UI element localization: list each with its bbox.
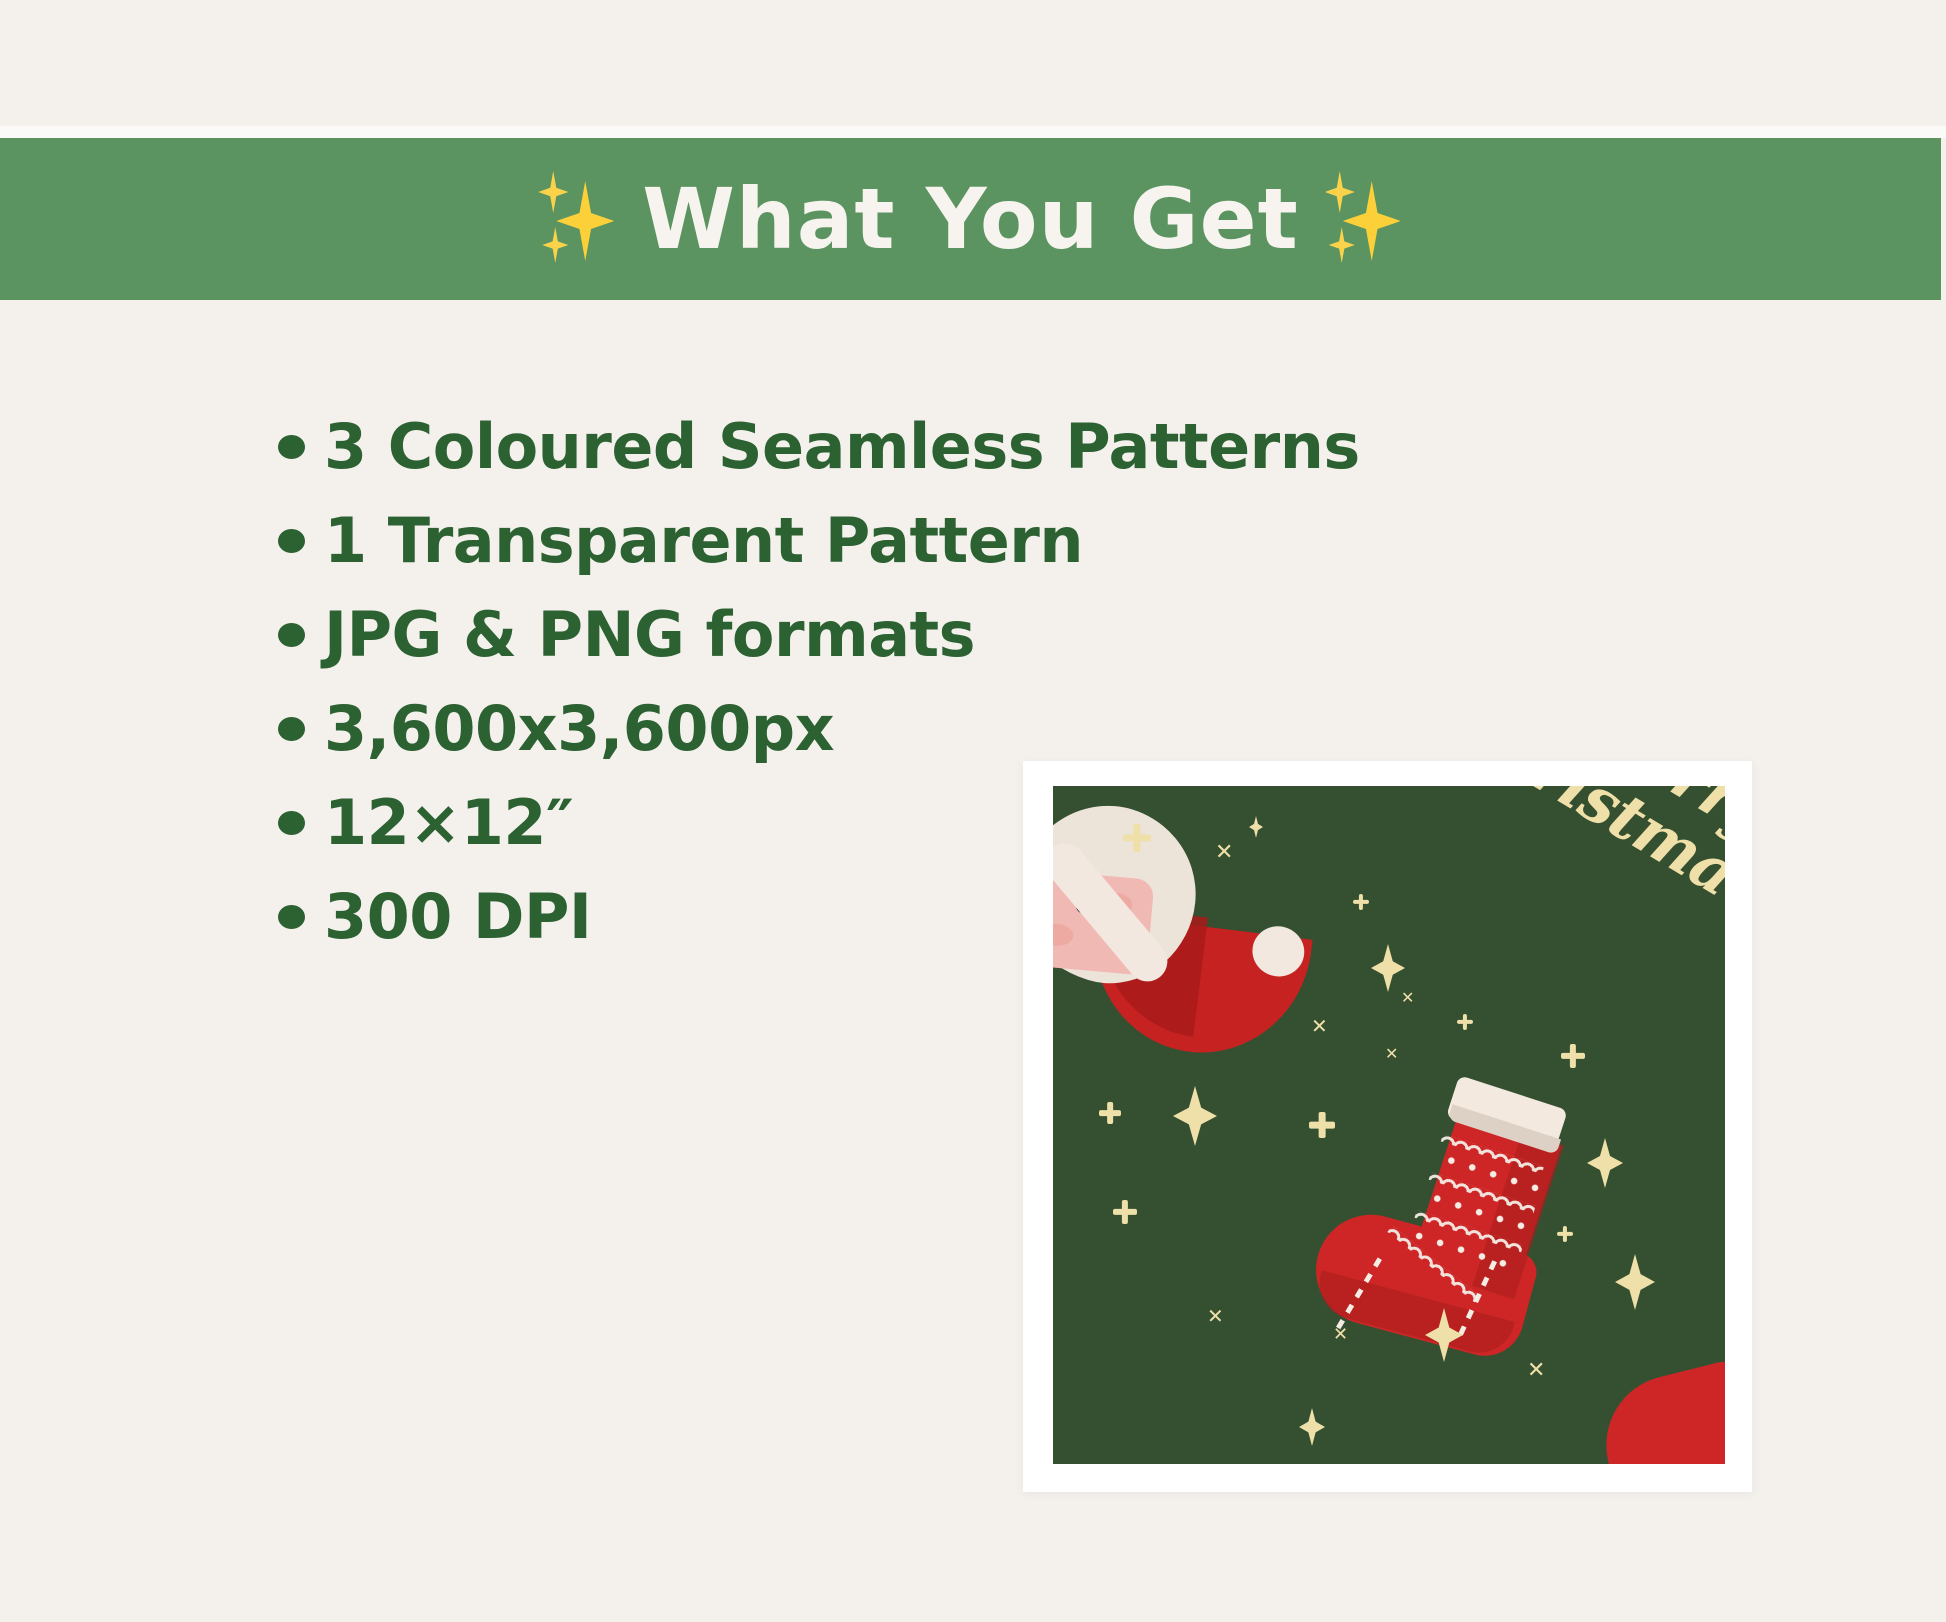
star-sparkle-icon [1371,944,1405,992]
bullet-dot-icon [278,435,305,459]
x-sparkle-icon: ✕ [1207,1306,1224,1326]
plus-sparkle-icon [1353,894,1369,910]
plus-sparkle-icon [1113,1200,1137,1224]
feature-label: JPG & PNG formats [324,604,975,666]
star-sparkle-icon [1587,1138,1623,1188]
pattern-repeat-red-corner [1592,1358,1725,1464]
bullet-dot-icon [278,623,305,647]
sparkles-icon-left [538,171,616,267]
page-title: What You Get [642,177,1298,261]
bullet-dot-icon [278,717,305,741]
bullet-dot-icon [278,905,305,929]
christmas-stocking-illustration [1292,1064,1583,1368]
sparkles-icon-right [1325,171,1403,267]
x-sparkle-icon: ✕ [1215,842,1233,864]
bullet-dot-icon [278,529,305,553]
plus-sparkle-icon [1561,1044,1585,1068]
merry-christmas-script-text: merry christma [1422,786,1725,907]
x-sparkle-icon: ✕ [1311,1016,1328,1036]
header-banner: What You Get [0,138,1941,300]
list-item: JPG & PNG formats [262,588,1262,682]
star-sparkle-icon [1249,816,1263,838]
plus-sparkle-icon [1309,1112,1335,1138]
star-sparkle-icon [1299,1408,1325,1446]
x-sparkle-icon: ✕ [1385,1046,1398,1062]
x-sparkle-icon: ✕ [1333,1326,1348,1344]
x-sparkle-icon: ✕ [1527,1360,1545,1382]
star-sparkle-icon [1173,1086,1217,1146]
pattern-preview-card[interactable]: merry christma HO HO HO [1023,761,1752,1492]
plus-sparkle-icon [1557,1226,1573,1242]
plus-sparkle-icon [1099,1102,1121,1124]
feature-label: 3 Coloured Seamless Patterns [324,416,1360,478]
banner-content: What You Get [538,171,1402,267]
plus-sparkle-icon [1457,1014,1473,1030]
x-sparkle-icon: ✕ [1401,990,1414,1006]
list-item: 1 Transparent Pattern [262,494,1262,588]
santa-face-illustration [1053,786,1334,1085]
feature-label: 1 Transparent Pattern [324,510,1083,572]
feature-label: 12×12″ [324,792,573,854]
plus-sparkle-icon [1123,824,1151,852]
top-strip [0,126,1946,138]
bullet-dot-icon [278,811,305,835]
list-item: 3 Coloured Seamless Patterns [262,400,1262,494]
star-sparkle-icon [1615,1254,1655,1310]
pattern-artwork: merry christma HO HO HO [1053,786,1725,1464]
feature-label: 3,600x3,600px [324,698,834,760]
feature-label: 300 DPI [324,886,591,948]
